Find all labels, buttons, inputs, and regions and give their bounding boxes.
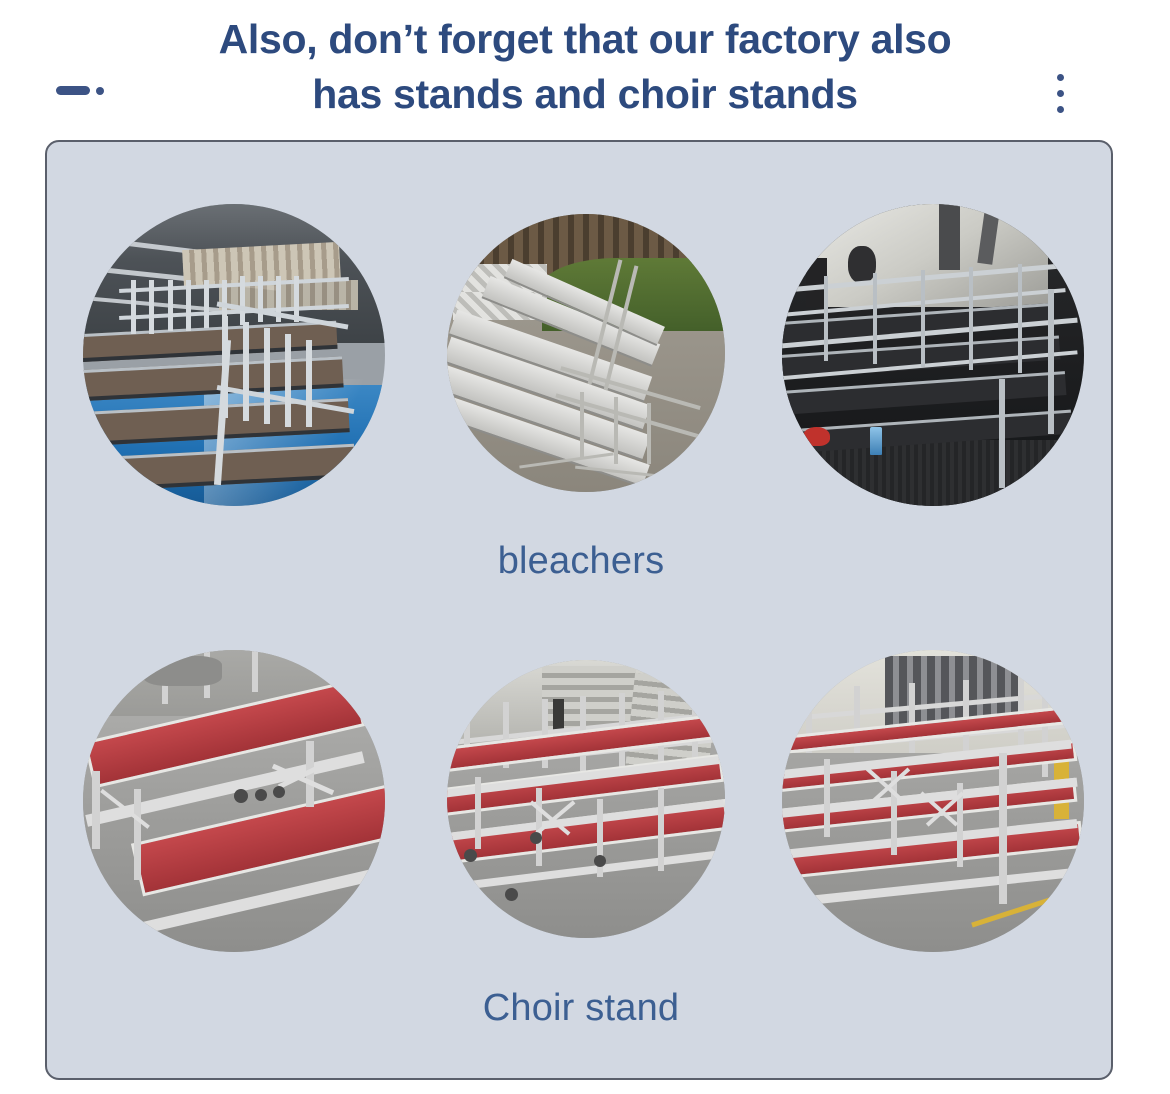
more-vertical-icon[interactable] <box>1055 74 1065 120</box>
photo-choir-stand-three-tier[interactable] <box>447 660 725 938</box>
photo-choir-stand-four-tier[interactable] <box>782 650 1084 952</box>
scene-choir-three-tier <box>447 660 725 938</box>
more-dot-2 <box>1057 90 1064 97</box>
gallery-row-bleachers <box>47 204 1113 514</box>
product-gallery-panel: bleachers <box>45 140 1113 1080</box>
scene-choir-four-tier <box>782 650 1084 952</box>
caption-bleachers: bleachers <box>47 540 1113 583</box>
dash-icon-bar <box>56 86 90 95</box>
scene-choir-two-tier <box>83 650 385 952</box>
more-dot-1 <box>1057 74 1064 81</box>
caption-choir-stand: Choir stand <box>47 987 1113 1030</box>
gallery-row-choir-stand <box>47 650 1113 960</box>
dash-icon-dot <box>96 87 104 95</box>
scene-bleachers-assembly <box>782 204 1084 506</box>
photo-bleachers-stacked-panels-outdoor[interactable] <box>447 214 725 492</box>
page-title: Also, don’t forget that our factory also… <box>120 12 1050 123</box>
photo-bleachers-assembly-indoor[interactable] <box>782 204 1084 506</box>
scene-bleachers-indoor <box>83 204 385 506</box>
scene-stacked-panels-outdoor <box>447 214 725 492</box>
photo-choir-stand-two-tier[interactable] <box>83 650 385 952</box>
page-header: Also, don’t forget that our factory also… <box>0 0 1170 132</box>
dash-dot-icon[interactable] <box>56 84 106 98</box>
more-dot-3 <box>1057 106 1064 113</box>
photo-bleachers-indoor-warehouse[interactable] <box>83 204 385 506</box>
